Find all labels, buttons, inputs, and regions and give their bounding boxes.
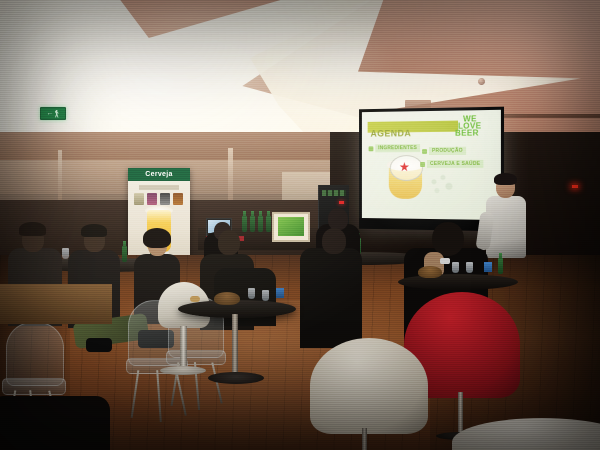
- slide-title: AGENDA: [371, 128, 412, 138]
- beer-glass-artwork: [383, 151, 428, 201]
- bullet-marker-icon: [422, 149, 427, 154]
- slide-bullet-3: CERVEJA E SAÚDE: [420, 160, 483, 168]
- display-bottle: [266, 216, 271, 232]
- snack-basket: [418, 266, 442, 278]
- bullet-label: CERVEJA E SAÚDE: [427, 160, 483, 168]
- display-bottle: [258, 216, 263, 232]
- running-man-icon: [55, 110, 60, 118]
- swan-chair-body: [310, 338, 428, 434]
- ingredient-icon-malt: [134, 193, 144, 205]
- ceiling-spotlight-icon: [478, 78, 485, 85]
- foreground-chair-shadow: [0, 396, 110, 450]
- banner-header: Cerveja: [128, 168, 190, 181]
- wooden-side-table: [0, 284, 112, 324]
- snack-plate: [190, 296, 200, 302]
- blue-cup: [276, 288, 284, 298]
- table-base: [208, 372, 264, 384]
- beer-brand-seal: [390, 155, 423, 181]
- attendee-head: [432, 222, 464, 256]
- photo-scene: ← AGENDA WE LOVE BEER INGREDIENTES: [0, 0, 600, 450]
- red-led-indicator: [572, 185, 578, 188]
- projected-slide: AGENDA WE LOVE BEER INGREDIENTES PRODUÇÃ…: [362, 110, 501, 220]
- drink-glass: [262, 290, 269, 301]
- round-table-right: [398, 274, 518, 290]
- banner-heading-text: Cerveja: [145, 171, 172, 178]
- table-leg: [232, 314, 238, 376]
- beer-bottle: [122, 246, 127, 262]
- we-love-beer-logo: WE LOVE BEER: [455, 115, 496, 137]
- banner-ingredient-icons: [134, 193, 184, 205]
- attendee-head: [218, 230, 240, 255]
- bubbles-decor: [428, 173, 458, 195]
- vending-led-icon: [339, 201, 344, 204]
- attendee-silhouette: [300, 248, 362, 348]
- slide-bullet-1: INGREDIENTES: [369, 144, 420, 152]
- ingredient-icon-water: [160, 193, 170, 205]
- drink-glass: [452, 262, 459, 273]
- display-bottle: [242, 216, 247, 232]
- bullet-marker-icon: [369, 146, 374, 151]
- attendee-shoe: [86, 338, 112, 352]
- ingredient-icon-yeast: [173, 193, 183, 205]
- ceiling: [0, 0, 600, 142]
- exit-arrow-icon: ←: [47, 110, 54, 117]
- banner-subtitle-bar: [139, 185, 179, 190]
- display-bottle: [250, 216, 255, 232]
- ingredient-icon-hops: [147, 193, 157, 205]
- wristwatch: [440, 258, 450, 264]
- swan-chair-stem: [362, 428, 367, 450]
- tulip-chair-stem: [180, 326, 187, 370]
- bullet-label: PRODUÇÃO: [429, 147, 466, 155]
- attendee-head: [328, 208, 348, 230]
- ghost-chair-seat: [2, 378, 66, 395]
- framed-display-artwork: [278, 217, 304, 236]
- framed-green-display: [272, 212, 310, 242]
- attendee-hair: [81, 224, 107, 237]
- vending-bottles-row: [322, 190, 346, 196]
- tulip-chair-base: [160, 366, 206, 375]
- ghost-chair-back: [6, 322, 64, 386]
- wall-divider-left: [58, 150, 62, 204]
- drink-glass: [466, 262, 473, 273]
- attendee-hair: [19, 222, 46, 236]
- exit-sign: ←: [40, 107, 66, 120]
- blue-cup: [484, 262, 492, 272]
- bullet-marker-icon: [420, 162, 425, 167]
- attendee-head: [322, 228, 346, 254]
- logo-line-3: BEER: [455, 129, 496, 137]
- bullet-label: INGREDIENTES: [375, 144, 420, 152]
- attendee-hair: [143, 228, 171, 248]
- snack-basket: [214, 292, 240, 305]
- wall-divider-center: [228, 148, 233, 206]
- presenter-hair: [494, 173, 517, 185]
- beer-bottle: [498, 258, 503, 274]
- drink-glass: [248, 288, 255, 299]
- slide-bullet-2: PRODUÇÃO: [422, 147, 466, 155]
